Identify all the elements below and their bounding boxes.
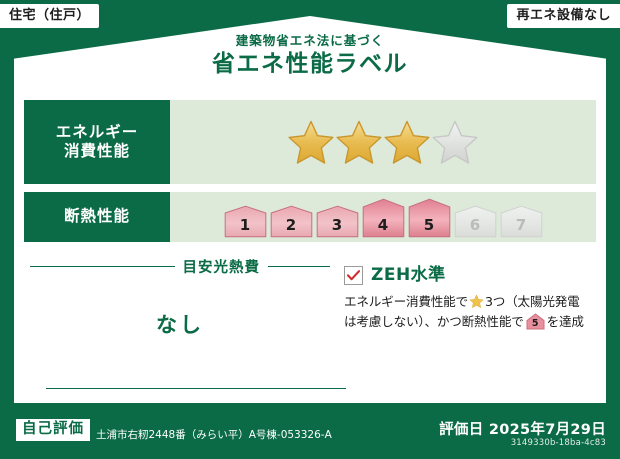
utility-cost-heading: 目安光熱費	[30, 256, 330, 277]
insulation-grade-6: 6	[454, 205, 497, 238]
zeh-desc-part1: エネルギー消費性能で	[344, 294, 468, 309]
insulation-grade-number: 4	[362, 218, 405, 233]
energy-consumption-label: エネルギー 消費性能	[24, 100, 170, 184]
energy-consumption-row: エネルギー 消費性能	[24, 100, 596, 184]
insulation-grade-2: 2	[270, 205, 313, 238]
evaluation-date: 評価日 2025年7月29日	[439, 418, 606, 439]
zeh-title: ZEH水準	[371, 267, 446, 284]
zeh-desc-part3: は考慮しない）、かつ断熱性能で	[344, 314, 524, 329]
zeh-desc-part2: 3つ（太陽光発電	[485, 294, 580, 309]
insulation-grade-3: 3	[316, 205, 359, 238]
zeh-heading: ZEH水準	[344, 266, 594, 285]
insulation-grade-number: 3	[316, 218, 359, 233]
insulation-grade-number: 7	[500, 218, 543, 233]
energy-performance-label: 住宅（住戸） 再エネ設備なし 建築物省エネ法に基づく 省エネ性能ラベル エネルギ…	[0, 0, 620, 459]
property-address: 土浦市右籾2448番（みらい平）A号棟-053326-A	[96, 427, 332, 442]
zeh-block: ZEH水準 エネルギー消費性能で3つ（太陽光発電 は考慮しない）、かつ断熱性能で…	[344, 266, 594, 331]
insulation-grade-scale: 1234567	[224, 196, 543, 238]
utility-cost-title: 目安光熱費	[183, 256, 261, 277]
insulation-grade-badge-number: 5	[526, 319, 545, 329]
insulation-grade-number: 2	[270, 218, 313, 233]
insulation-grade-5: 5	[408, 198, 451, 238]
insulation-grade-1: 1	[224, 205, 267, 238]
zeh-desc-part4: を達成	[547, 314, 584, 329]
insulation-performance-value: 1234567	[170, 192, 596, 242]
label-id: 3149330b-18ba-4c83	[511, 438, 606, 448]
insulation-label-text: 断熱性能	[64, 207, 130, 226]
energy-label-line1: エネルギー	[56, 123, 139, 142]
energy-consumption-value	[170, 100, 596, 184]
energy-label-line2: 消費性能	[64, 142, 130, 161]
building-type-tag: 住宅（住戸）	[0, 4, 99, 28]
insulation-grade-number: 1	[224, 218, 267, 233]
star-icon-filled	[384, 119, 430, 165]
lower-section: 目安光熱費 なし ZEH水準 エネルギー消費性能で3つ（太陽光発電	[14, 252, 606, 403]
insulation-performance-label: 断熱性能	[24, 192, 170, 242]
self-evaluation-badge: 自己評価	[16, 419, 90, 441]
zeh-description: エネルギー消費性能で3つ（太陽光発電 は考慮しない）、かつ断熱性能で5を達成	[344, 292, 594, 331]
insulation-grade-badge-inline: 5	[526, 313, 545, 330]
checkmark-icon	[347, 270, 360, 281]
utility-cost-block: 目安光熱費 なし	[30, 252, 330, 397]
star-icon-filled	[288, 119, 334, 165]
star-icon-empty	[432, 119, 478, 165]
insulation-grade-4: 4	[362, 198, 405, 238]
label-body: エネルギー 消費性能 断熱性能 1234567 目安光熱費	[14, 92, 606, 403]
utility-cost-value: なし	[30, 309, 330, 339]
insulation-grade-number: 6	[454, 218, 497, 233]
utility-cost-bottom-rule	[46, 388, 346, 390]
insulation-performance-row: 断熱性能 1234567	[24, 192, 596, 242]
star-rating	[288, 119, 478, 165]
star-icon-filled	[336, 119, 382, 165]
insulation-grade-7: 7	[500, 205, 543, 238]
renewable-energy-tag: 再エネ設備なし	[507, 4, 620, 28]
zeh-checkbox[interactable]	[344, 266, 363, 285]
heading-rule-right	[268, 266, 330, 268]
insulation-grade-number: 5	[408, 218, 451, 233]
heading-rule-left	[30, 266, 175, 268]
label-footer: 自己評価 土浦市右籾2448番（みらい平）A号棟-053326-A 評価日 20…	[0, 405, 620, 459]
star-icon-inline	[469, 294, 484, 309]
roof-shape	[14, 16, 606, 98]
